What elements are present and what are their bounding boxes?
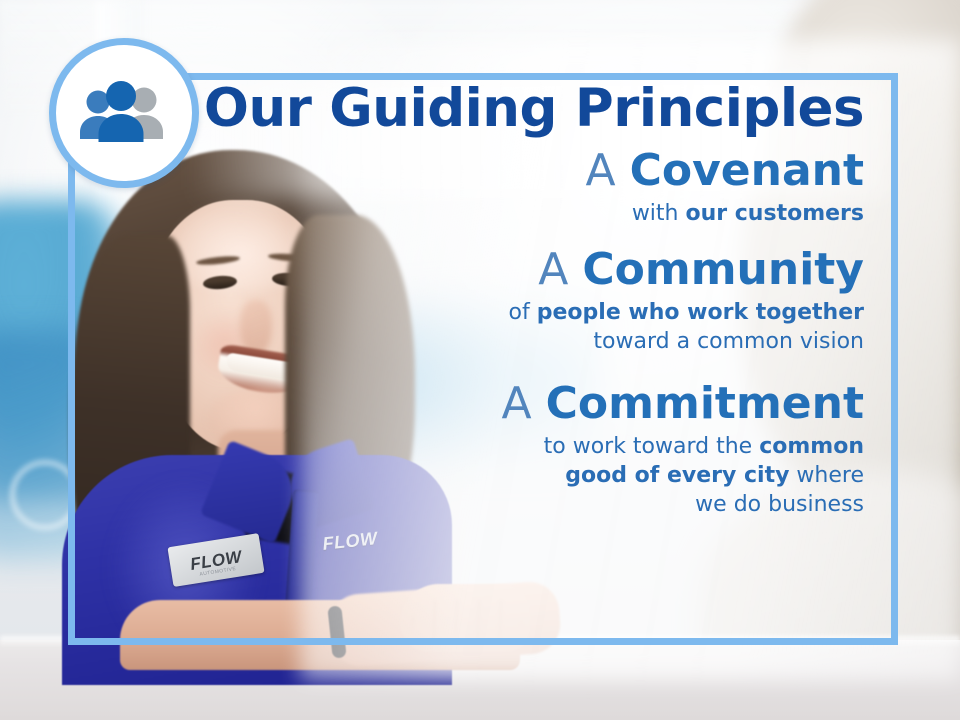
principle-article: A <box>502 378 546 429</box>
principle-subtitle-commitment: to work toward the commongood of every c… <box>120 432 864 519</box>
subtitle-line: we do business <box>120 490 864 519</box>
subtitle-line: toward a common vision <box>120 327 864 356</box>
principle-commitment: A Commitment to work toward the commongo… <box>120 378 880 519</box>
content-block: Our Guiding Principles A Covenant with o… <box>120 82 880 523</box>
subtitle-line: to work toward the common <box>120 432 864 461</box>
subtitle-line: good of every city where <box>120 461 864 490</box>
principle-subtitle-covenant: with our customers <box>120 199 864 228</box>
subtitle-emphasis: people who work together <box>537 300 864 325</box>
principle-keyword: Commitment <box>546 378 864 429</box>
principle-subtitle-community: of people who work togethertoward a comm… <box>120 298 864 356</box>
chest-logo-text: FLOW <box>322 529 379 553</box>
page-title: Our Guiding Principles <box>120 82 880 135</box>
subtitle-text: to work toward the <box>544 434 760 459</box>
subtitle-emphasis: good of every city <box>565 463 789 488</box>
subtitle-emphasis: our customers <box>685 201 864 226</box>
principle-title-community: A Community <box>120 244 864 296</box>
principle-keyword: Community <box>582 244 864 295</box>
principle-article: A <box>585 145 629 196</box>
subtitle-text: toward a common vision <box>593 329 864 354</box>
subtitle-text: with <box>632 201 686 226</box>
guiding-principles-graphic: FLOW AUTOMOTIVE FLOW Our Guiding <box>0 0 960 720</box>
principle-article: A <box>538 244 582 295</box>
principle-keyword: Covenant <box>630 145 864 196</box>
subtitle-text: of <box>509 300 537 325</box>
subtitle-line: with our customers <box>120 199 864 228</box>
principle-title-commitment: A Commitment <box>120 378 864 430</box>
subtitle-line: of people who work together <box>120 298 864 327</box>
subtitle-text: we do business <box>695 492 864 517</box>
subtitle-emphasis: common <box>759 434 864 459</box>
principle-community: A Community of people who work togethert… <box>120 244 880 356</box>
blurred-car-emblem <box>10 460 80 530</box>
principle-title-covenant: A Covenant <box>120 145 864 197</box>
woman-fingers <box>412 600 522 644</box>
subtitle-text: where <box>789 463 864 488</box>
principle-covenant: A Covenant with our customers <box>120 145 880 228</box>
